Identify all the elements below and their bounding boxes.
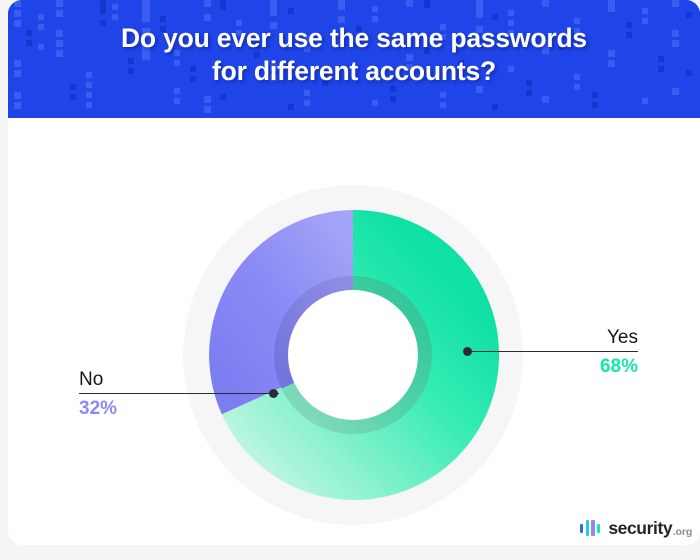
callout-no-value: 32%: [79, 396, 279, 421]
callout-no-rule: [79, 393, 279, 394]
page-title: Do you ever use the same passwords for d…: [8, 22, 700, 88]
donut-hole: [288, 290, 418, 420]
callout-yes-label: Yes: [463, 326, 638, 349]
logo-wordmark: security: [608, 519, 672, 537]
callout-yes-rule: [463, 351, 638, 352]
security-org-logo[interactable]: security .org: [580, 517, 692, 539]
callout-yes-value: 68%: [463, 354, 638, 379]
callout-no: No 32%: [79, 368, 279, 421]
infographic-card: Do you ever use the same passwords for d…: [8, 0, 700, 545]
callout-yes: Yes 68%: [463, 326, 638, 379]
chart-area: No 32% Yes 68%: [8, 118, 700, 545]
logo-tld: .org: [673, 526, 692, 539]
callout-no-label: No: [79, 368, 279, 391]
infographic-root: Do you ever use the same passwords for d…: [0, 0, 700, 560]
header-banner: Do you ever use the same passwords for d…: [8, 0, 700, 118]
logo-bars-icon: [580, 519, 602, 537]
